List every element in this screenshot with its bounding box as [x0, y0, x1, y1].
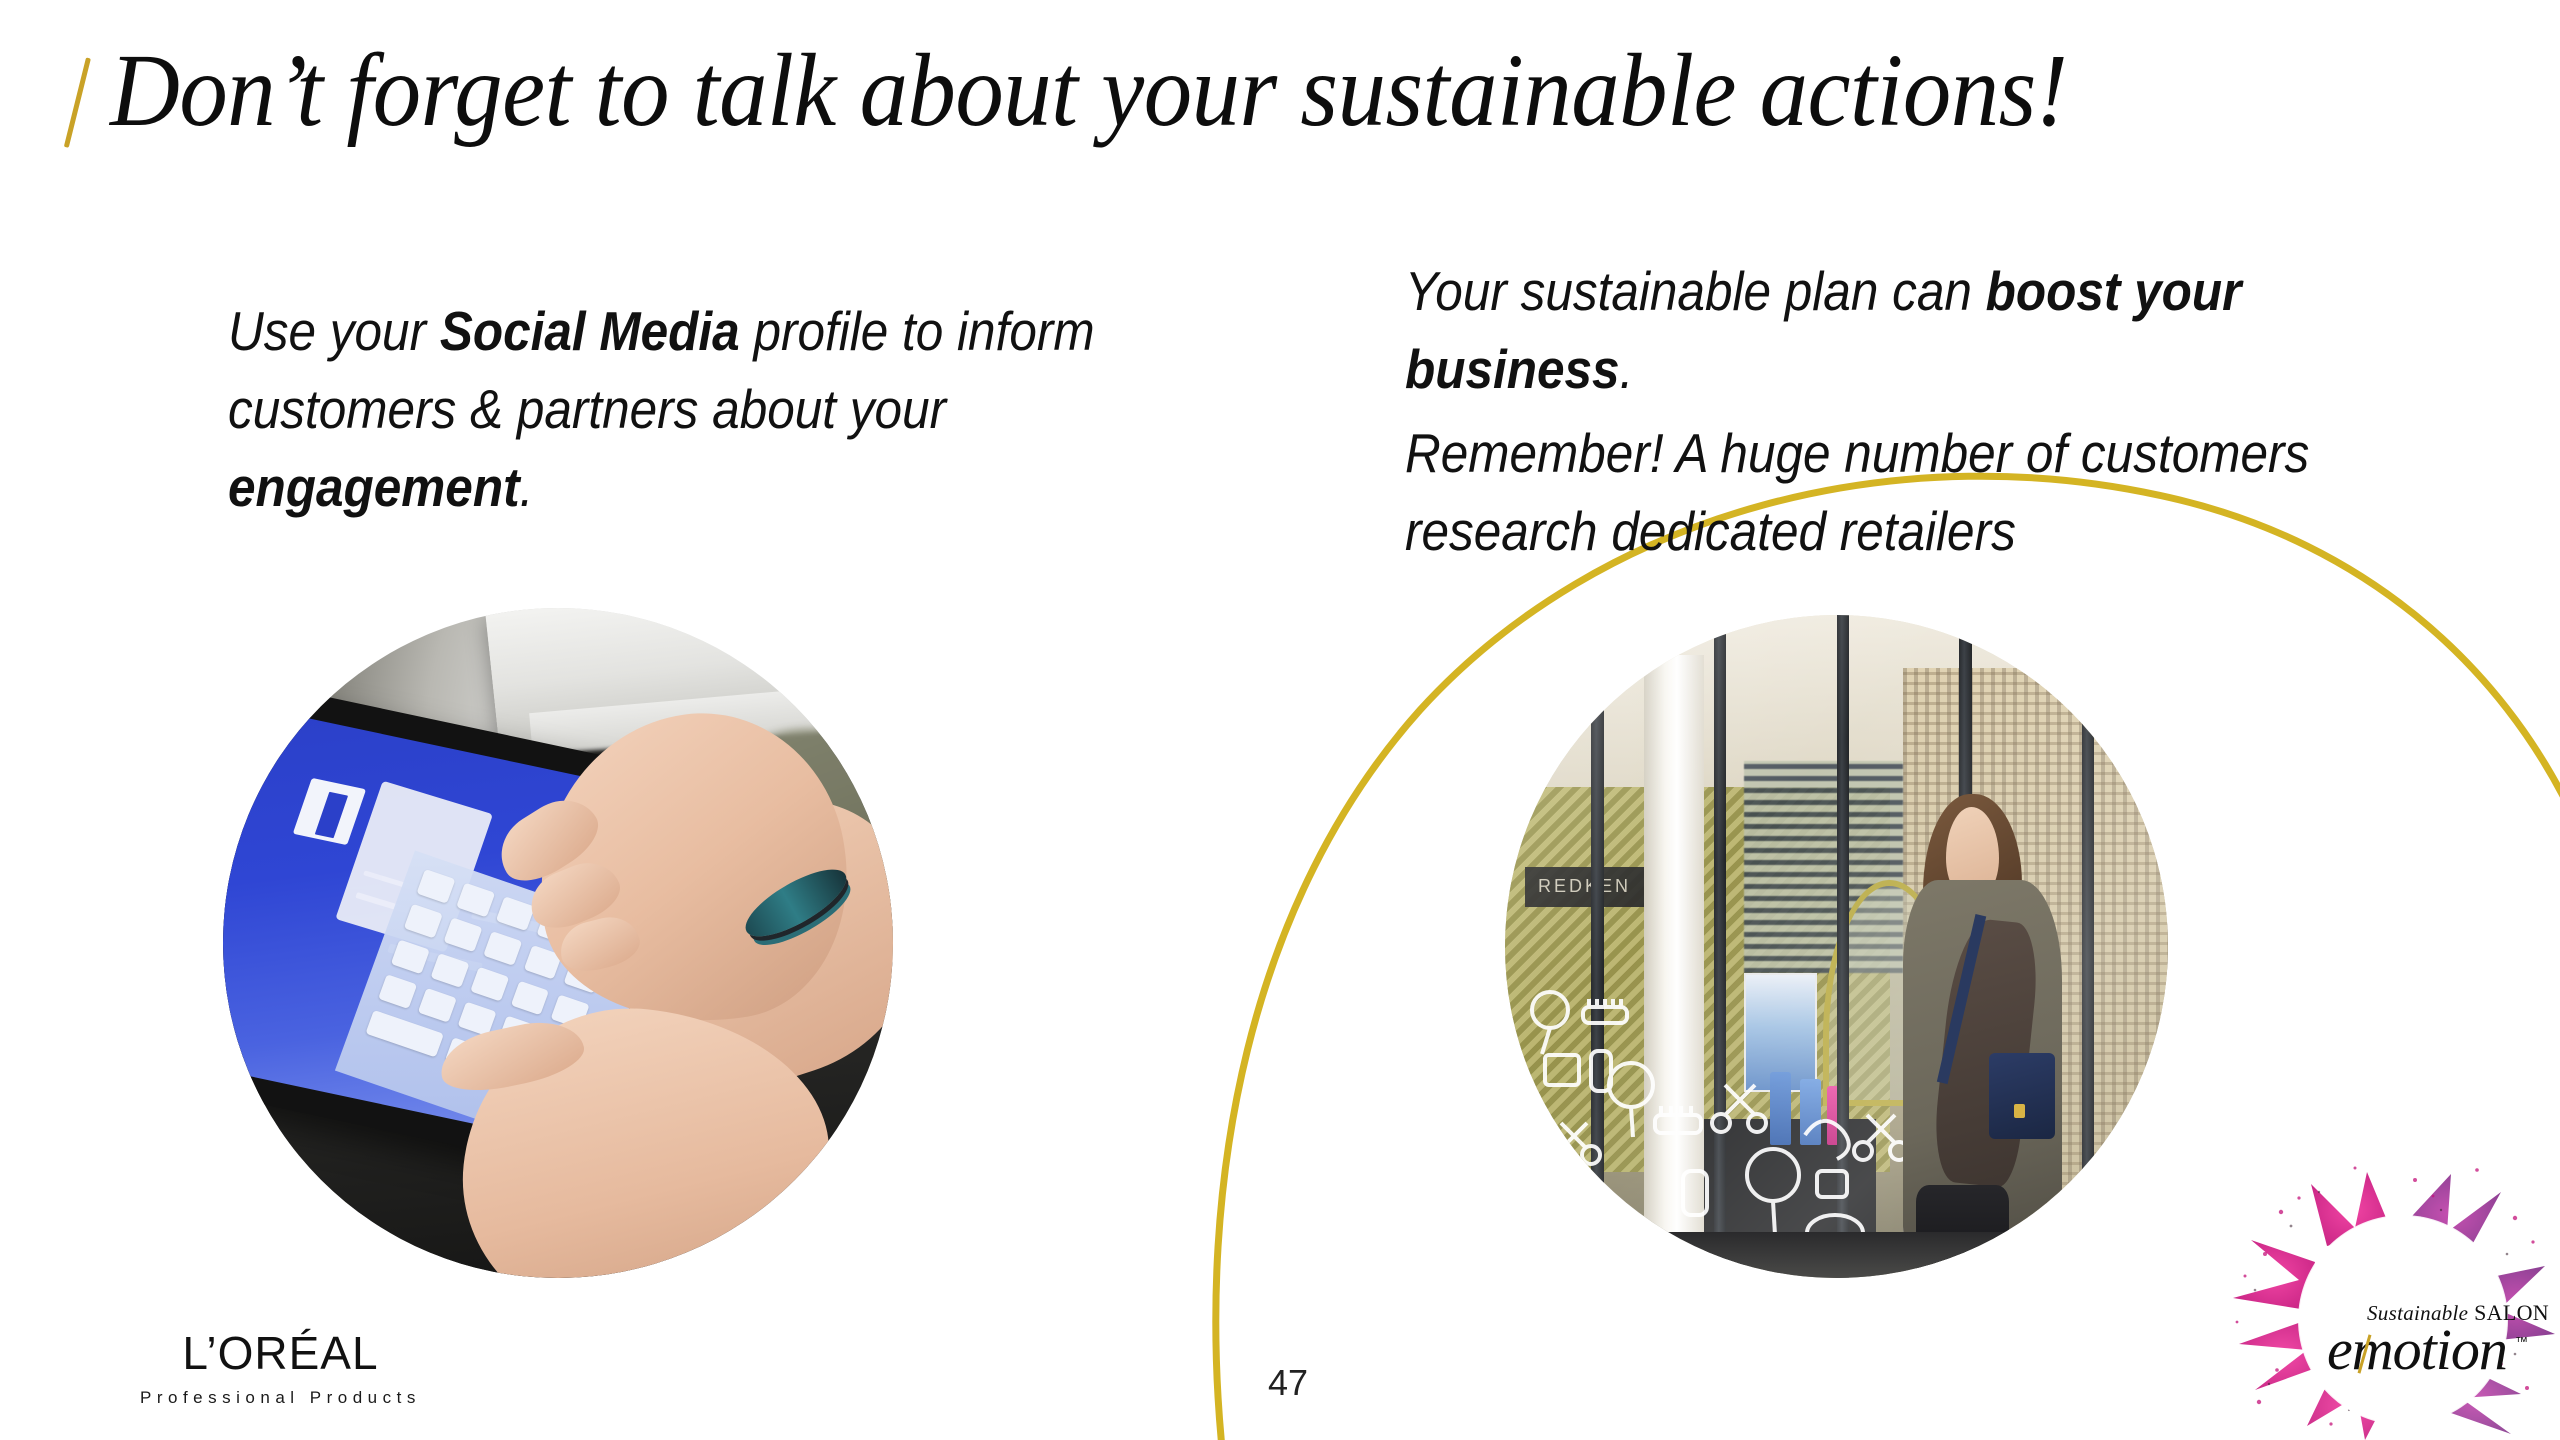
left-copy-line2-post: . — [520, 456, 534, 518]
right-copy-block: Your sustainable plan can boost your bus… — [1405, 252, 2359, 570]
photo-right-handbag — [1989, 1053, 2055, 1139]
loreal-logo: L’ORÉAL Professional Products — [140, 1330, 421, 1408]
page-title-text: Don’t forget to talk about your sustaina… — [110, 36, 2068, 145]
facebook-logo-icon — [292, 778, 366, 845]
emotion-trademark-icon: ™ — [2515, 1334, 2528, 1349]
right-copy-p1-pre: Your sustainable plan can — [1405, 260, 1986, 322]
left-copy-engagement: engagement — [228, 456, 520, 518]
photo-salon-storefront: REDKEN — [1505, 615, 2168, 1278]
loreal-tagline: Professional Products — [140, 1388, 421, 1408]
page-title: Don’t forget to talk about your sustaina… — [70, 28, 2215, 158]
page-number: 47 — [1268, 1362, 1308, 1404]
sustainable-salon-emotion-logo: Sustainable SALON emotion ™ — [2215, 1158, 2560, 1440]
left-copy-block: Use your Social Media profile to inform … — [228, 292, 1128, 526]
left-copy-social-media: Social Media — [440, 300, 740, 362]
right-copy-p1-post: . — [1620, 338, 1634, 400]
photo-right-glass-reflection — [1505, 615, 2168, 1278]
loreal-wordmark: L’ORÉAL — [140, 1330, 421, 1376]
emotion-wordmark: emotion — [2327, 1316, 2507, 1383]
slide-root: Don’t forget to talk about your sustaina… — [0, 0, 2560, 1440]
photo-right-pavement — [1505, 1232, 2168, 1278]
slash-accent-icon — [70, 28, 104, 146]
right-copy-p2: Remember! A huge number of customers res… — [1405, 422, 2309, 562]
photo-tablet-social-media — [223, 608, 893, 1278]
left-copy-line1-pre: Use your — [228, 300, 440, 362]
